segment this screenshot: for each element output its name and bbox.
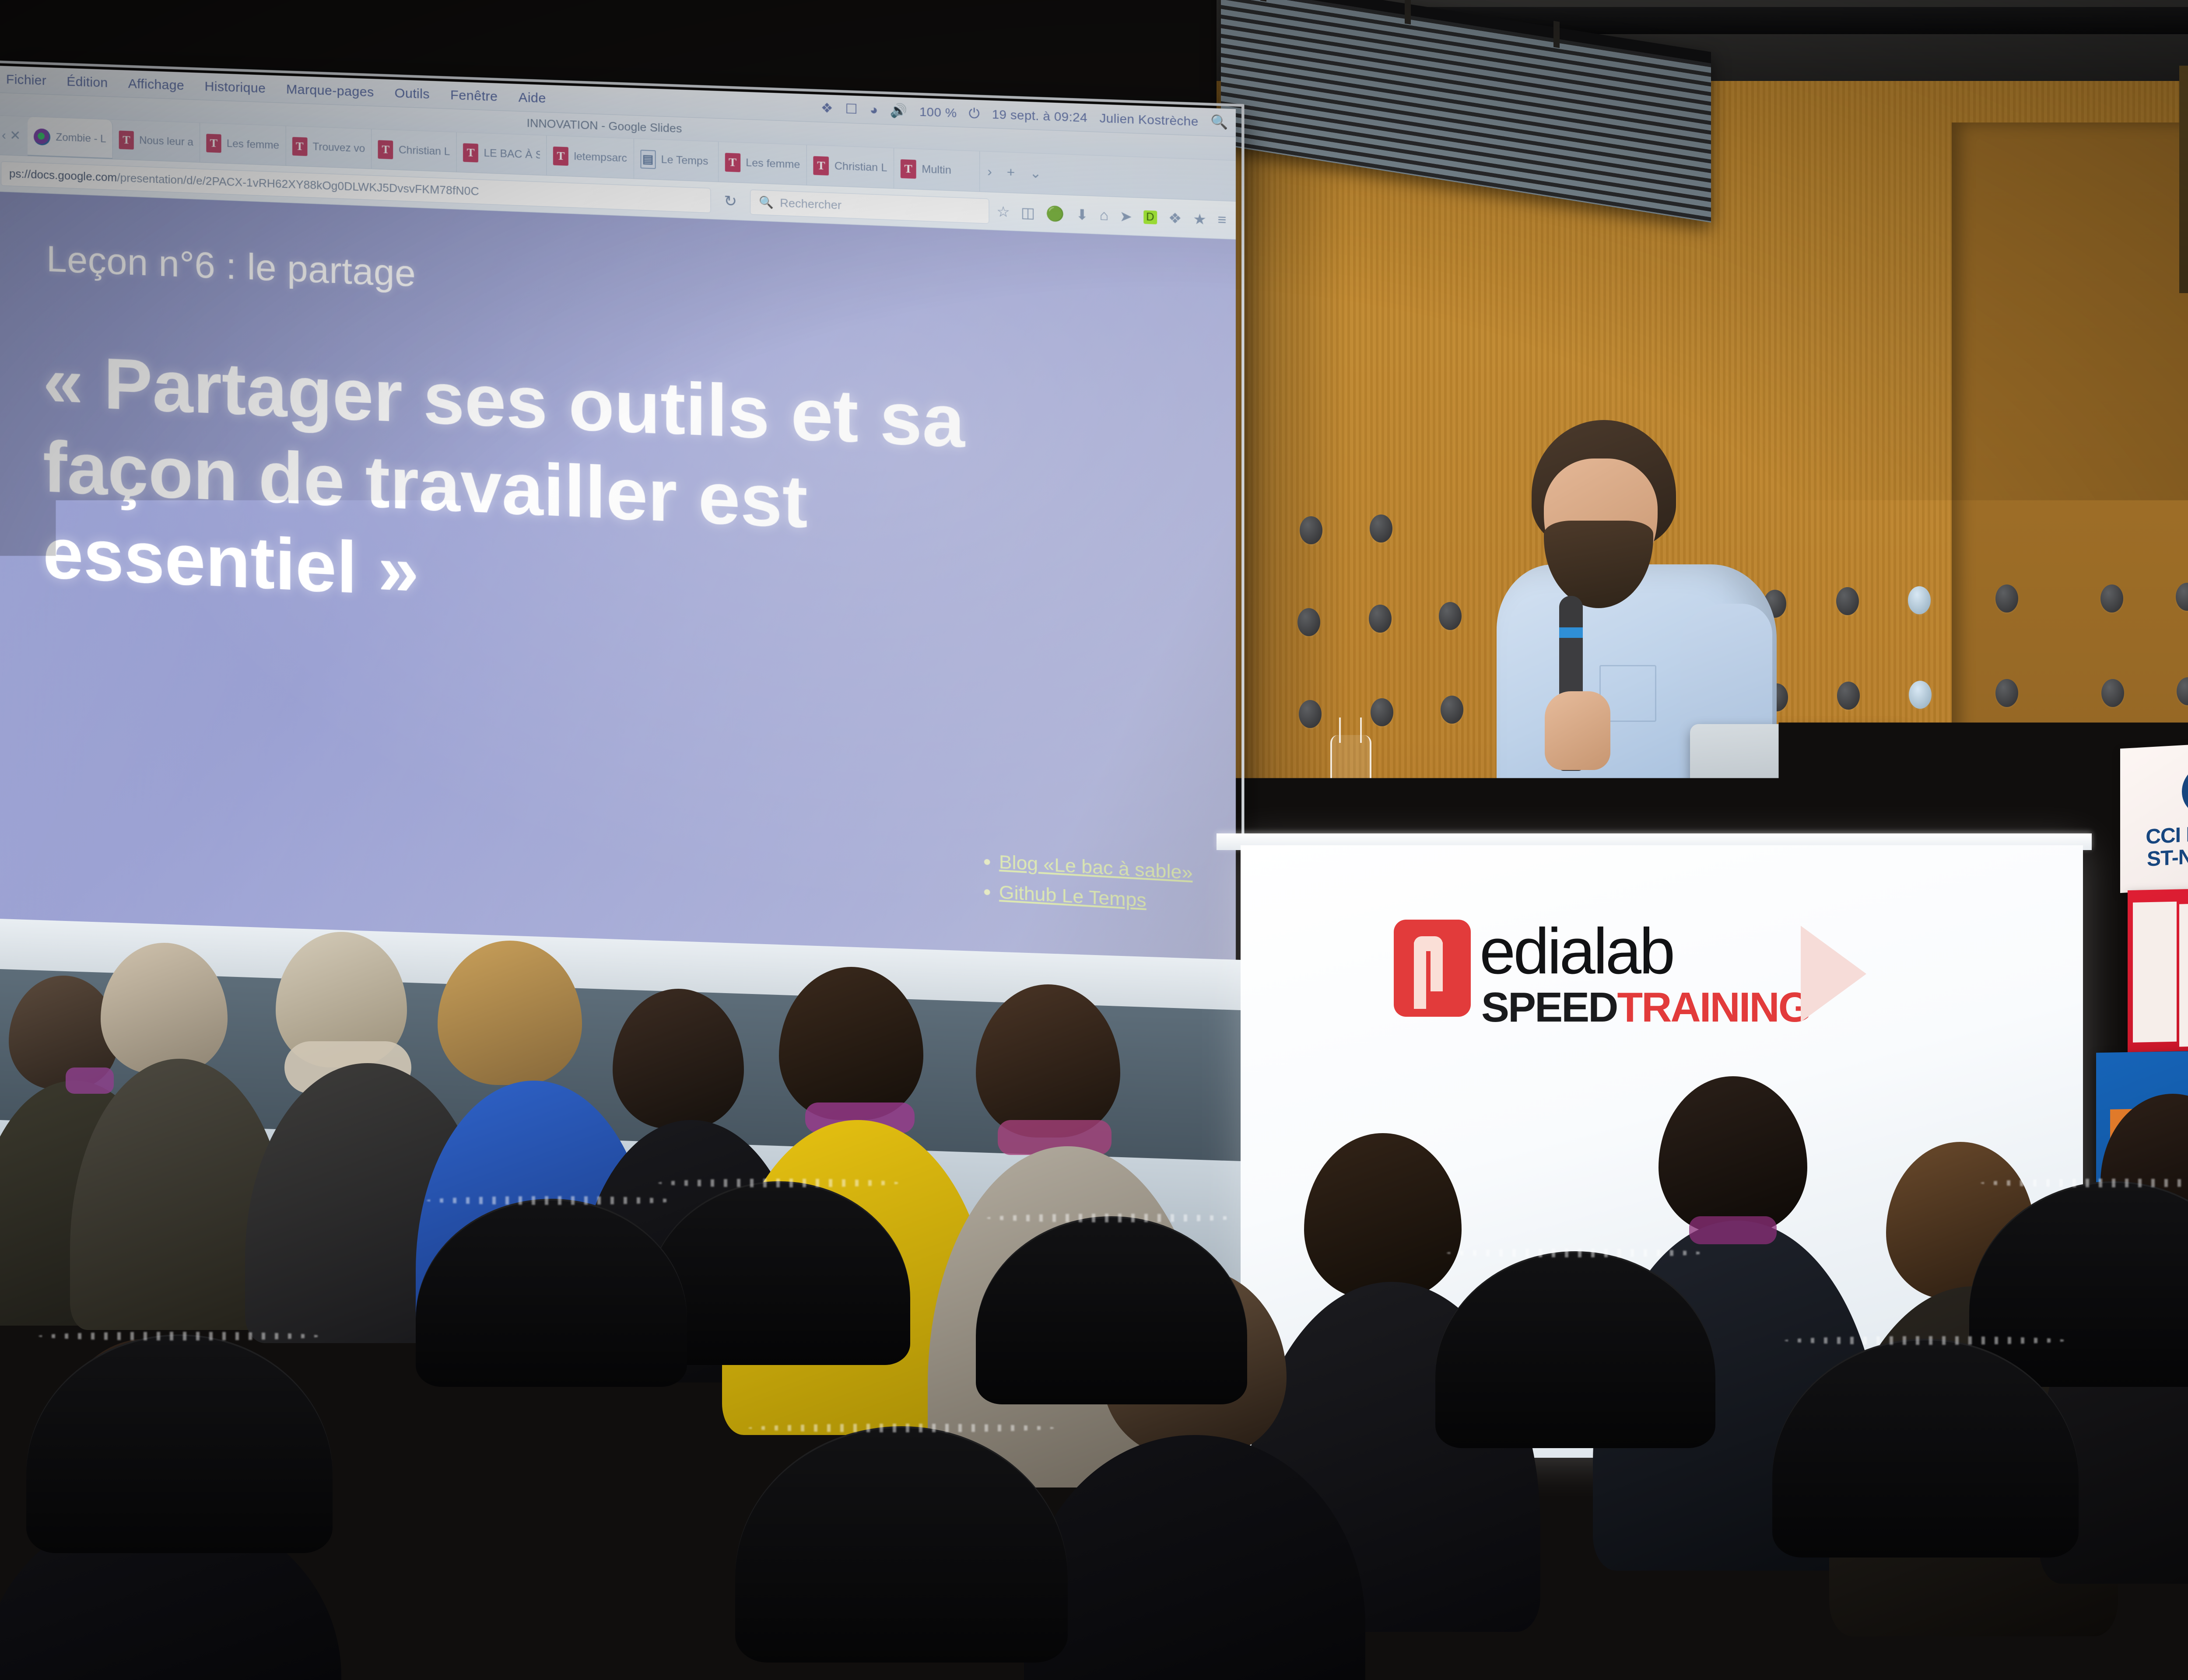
- slide-link[interactable]: Blog «Le bac à sable»: [999, 851, 1192, 883]
- download-icon[interactable]: ⬇: [1076, 206, 1088, 223]
- tab-overflow-chevron-right-icon[interactable]: ›: [980, 151, 999, 192]
- cci-logo-icon: [2182, 763, 2188, 818]
- reader-icon[interactable]: ◫: [1021, 203, 1035, 221]
- browser-tab[interactable]: T Nous leur a: [113, 120, 200, 162]
- tab-label: Christian L: [399, 143, 450, 158]
- tab-label: LE BAC À S: [484, 147, 540, 161]
- apple-logo-icon: [2014, 796, 2038, 823]
- google-slides-canvas[interactable]: Leçon n°6 : le partage « Partager ses ou…: [0, 192, 1236, 998]
- conference-room-photo: Fichier Édition Affichage Historique Mar…: [0, 0, 2188, 1680]
- search-input[interactable]: 🔍 Rechercher: [750, 189, 989, 224]
- browser-tab[interactable]: T LE BAC À S: [457, 132, 547, 175]
- pocket-icon[interactable]: 🟢: [1046, 205, 1065, 223]
- menu-item-edition[interactable]: Édition: [67, 74, 108, 90]
- macbook-right: [1921, 744, 2131, 844]
- slide-quote-text: « Partager ses outils et sa façon de tra…: [43, 338, 1082, 648]
- browser-tab[interactable]: T letempsarc: [547, 136, 634, 178]
- tab-label: Trouvez vo: [312, 140, 365, 155]
- menu-item-fenetre[interactable]: Fenêtre: [450, 87, 498, 104]
- spotlight-search-icon[interactable]: 🔍: [1211, 115, 1228, 130]
- tab-label: Le Temps: [661, 154, 708, 168]
- browser-tab[interactable]: T Les femme: [719, 142, 807, 185]
- tab-scroll-left[interactable]: ‹ ✕: [0, 115, 28, 156]
- menu-item-marque-pages[interactable]: Marque-pages: [286, 82, 374, 100]
- menu-item-historique[interactable]: Historique: [204, 79, 266, 96]
- search-icon: 🔍: [759, 195, 774, 210]
- menubar-username[interactable]: Julien Kostrèche: [1100, 111, 1199, 129]
- cci-cube-contact: i in 🐦 02 40 44 60 00 NantesStNazaire.cc…: [2128, 884, 2188, 1052]
- tab-label: Les femme: [746, 157, 800, 171]
- wifi-icon[interactable]: ◕: [870, 103, 878, 117]
- slide-link[interactable]: Github Le Temps: [999, 881, 1147, 911]
- tab-list-chevron-down-icon[interactable]: ⌄: [1022, 153, 1049, 194]
- cci-cube-left-text: CCI NANTES ST-NAZAIRE: [2146, 819, 2188, 871]
- tab-label: letempsarc: [574, 150, 627, 164]
- menu-item-affichage[interactable]: Affichage: [128, 76, 184, 93]
- t-favicon: T: [378, 140, 393, 159]
- medialab-logo: edialab SPEEDTRAINING: [1394, 910, 1910, 1037]
- menu-item-outils[interactable]: Outils: [395, 86, 430, 102]
- battery-charging-icon[interactable]: ⏻: [969, 107, 980, 121]
- foreground-shadow: [0, 1164, 2188, 1680]
- slide-lesson-label: Leçon n°6 : le partage: [46, 238, 416, 295]
- browser-tab[interactable]: Zombie - L: [28, 117, 112, 159]
- url-path: /presentation/d/e/2PACX-1vRH62XY88kOg0DL…: [117, 171, 479, 199]
- dropbox-icon[interactable]: ❖: [821, 101, 834, 115]
- cci-line1: CCI NANTES: [2146, 819, 2188, 849]
- ceiling-soffit: [2179, 66, 2188, 293]
- profile-icon[interactable]: ★: [1193, 210, 1206, 228]
- reload-icon[interactable]: ↻: [718, 192, 743, 210]
- browser-tab[interactable]: T Trouvez vo: [286, 126, 372, 168]
- list-item[interactable]: Blog «Le bac à sable»: [999, 847, 1192, 888]
- cci-contact-panel: i in 🐦 02 40 44 60 00 NantesStNazaire.cc…: [2179, 899, 2188, 1047]
- t-favicon: T: [206, 133, 221, 153]
- t-favicon: T: [463, 143, 478, 162]
- url-domain: ps://docs.google.com: [9, 167, 117, 184]
- toolbar-icon-group: ☆ ◫ 🟢 ⬇ ⌂ ➤ D ❖ ★ ≡: [996, 203, 1229, 229]
- search-placeholder: Rechercher: [780, 196, 842, 212]
- doc-favicon: ▤: [640, 150, 656, 169]
- apple-logo-icon: [1788, 783, 1811, 810]
- arrow-right-icon: [1801, 926, 1866, 1022]
- t-favicon: T: [553, 146, 568, 165]
- home-icon[interactable]: ⌂: [1099, 207, 1108, 224]
- browser-tab[interactable]: T Christian L: [807, 145, 894, 189]
- airplay-icon[interactable]: ☐: [845, 102, 858, 116]
- t-favicon: T: [292, 136, 308, 156]
- browser-tab[interactable]: T Les femme: [200, 123, 286, 165]
- speaker-hand: [1545, 691, 1610, 770]
- menu-item-fichier[interactable]: Fichier: [6, 72, 46, 88]
- adblock-icon[interactable]: D: [1143, 210, 1157, 224]
- battery-percent-label: 100 %: [919, 105, 957, 120]
- t-favicon: T: [813, 156, 829, 175]
- tagline-training: TRAINING: [1617, 984, 1809, 1031]
- medialab-wordmark: edialab: [1480, 914, 1673, 989]
- tab-label: Multin: [922, 163, 951, 177]
- star-icon[interactable]: ☆: [996, 203, 1010, 220]
- t-favicon: T: [725, 153, 740, 172]
- list-item[interactable]: Github Le Temps: [999, 877, 1192, 918]
- tab-label: Nous leur a: [139, 134, 193, 149]
- zombie-favicon: [34, 128, 50, 145]
- menu-item-aide[interactable]: Aide: [519, 90, 546, 106]
- notes-icon[interactable]: ❖: [1168, 209, 1182, 227]
- tagline-speed: SPEED: [1481, 984, 1617, 1031]
- projection-screen: Fichier Édition Affichage Historique Mar…: [0, 66, 1236, 998]
- medialab-m-mark: [1394, 920, 1471, 1017]
- tab-label: Christian L: [835, 160, 887, 174]
- tab-label: Zombie - L: [56, 131, 106, 145]
- water-carafe: [1330, 735, 1371, 835]
- volume-icon[interactable]: 🔊: [890, 104, 908, 118]
- slide-link-list: Blog «Le bac à sable» Github Le Temps: [983, 846, 1192, 918]
- menu-icon[interactable]: ≡: [1218, 211, 1227, 228]
- browser-tab[interactable]: T Multin: [894, 148, 980, 192]
- menubar-clock[interactable]: 19 sept. à 09:24: [992, 107, 1087, 125]
- macbook-left: [1690, 724, 1909, 838]
- lanyard: [66, 1067, 114, 1094]
- new-tab-plus-icon[interactable]: +: [999, 152, 1022, 193]
- cci-cube-left: CCI NANTES ST-NAZAIRE: [2120, 739, 2188, 893]
- t-favicon: T: [119, 130, 134, 149]
- tab-label: Les femme: [227, 137, 279, 152]
- medialab-tagline: SPEEDTRAINING: [1481, 983, 1809, 1032]
- browser-tab[interactable]: T Christian L: [372, 129, 457, 171]
- send-icon[interactable]: ➤: [1120, 207, 1133, 225]
- t-favicon: T: [901, 159, 916, 178]
- browser-tab[interactable]: ▤ Le Temps: [634, 139, 718, 182]
- cci-cube-side-panel: [2133, 902, 2177, 1043]
